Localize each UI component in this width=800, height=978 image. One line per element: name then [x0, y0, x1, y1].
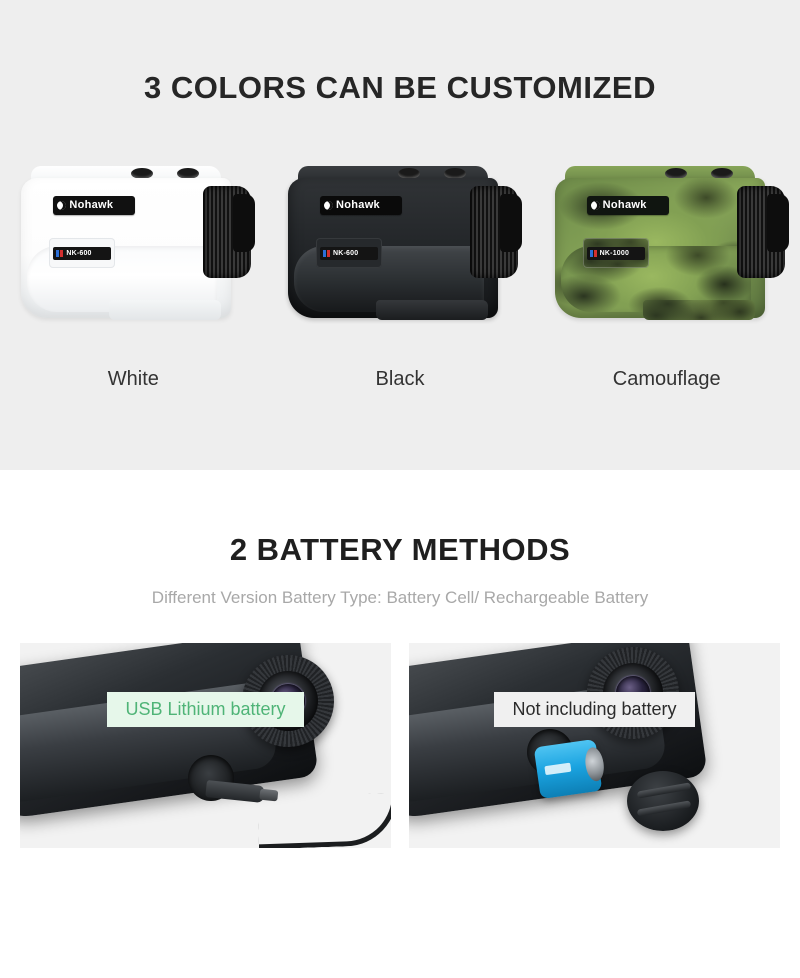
battery-cell-photo[interactable] — [409, 643, 780, 848]
model-badge-white: NK-600 — [53, 247, 111, 260]
rangefinder-black-image: Nohawk NK-600 — [280, 160, 520, 340]
model-badge-camo: NK-1000 — [587, 247, 645, 260]
color-variants-row: Nohawk NK-600 White — [0, 160, 800, 375]
brand-name-label: Nohawk — [336, 200, 380, 211]
battery-cell-caption-wrap: Not including battery — [409, 692, 780, 727]
brand-name-label: Nohawk — [69, 200, 113, 211]
battery-cap-icon — [627, 771, 699, 831]
model-number-label: NK-1000 — [600, 250, 629, 257]
cap-slot — [637, 782, 691, 798]
usb-cable-icon — [257, 793, 391, 848]
colors-section-title: 3 COLORS CAN BE CUSTOMIZED — [0, 0, 800, 106]
eyecup-icon — [233, 194, 255, 252]
model-plate-black: NK-600 — [316, 238, 382, 268]
color-label-black: Black — [267, 368, 534, 391]
blue-battery-cell-icon — [534, 739, 603, 799]
device-foot-camo — [643, 300, 755, 320]
color-label-white: White — [0, 368, 267, 391]
brand-logo-camo: Nohawk — [587, 196, 669, 215]
blue-bar-icon — [590, 250, 593, 257]
crescent-logo-icon — [57, 201, 66, 210]
model-plate-camo: NK-1000 — [583, 238, 649, 268]
brand-name-label: Nohawk — [603, 200, 647, 211]
battery-section-subtitle: Different Version Battery Type: Battery … — [0, 588, 800, 608]
device-foot-black — [376, 300, 488, 320]
blue-bar-icon — [56, 250, 59, 257]
battery-stripe — [544, 763, 571, 776]
color-variant-camouflage[interactable]: Nohawk NK-1000 Camouflage — [533, 160, 800, 375]
red-bar-icon — [594, 250, 597, 257]
model-plate-white: NK-600 — [49, 238, 115, 268]
battery-captions-row: USB Lithium battery Not including batter… — [0, 692, 800, 727]
usb-caption-wrap: USB Lithium battery — [20, 692, 391, 727]
crescent-logo-icon — [324, 201, 333, 210]
model-number-label: NK-600 — [66, 250, 91, 257]
usb-charging-photo[interactable] — [20, 643, 391, 848]
red-bar-icon — [60, 250, 63, 257]
brand-logo-black: Nohawk — [320, 196, 402, 215]
battery-section-title: 2 BATTERY METHODS — [0, 470, 800, 568]
color-variant-white[interactable]: Nohawk NK-600 White — [0, 160, 267, 375]
not-including-battery-badge: Not including battery — [494, 692, 694, 727]
battery-section: 2 BATTERY METHODS Different Version Batt… — [0, 470, 800, 978]
battery-photos-row — [0, 643, 800, 848]
eyecup-icon — [767, 194, 789, 252]
colors-section: 3 COLORS CAN BE CUSTOMIZED Nohawk — [0, 0, 800, 470]
brand-logo-white: Nohawk — [53, 196, 135, 215]
rangefinder-camouflage-image: Nohawk NK-1000 — [547, 160, 787, 340]
device-foot-white — [109, 300, 221, 320]
color-variant-black[interactable]: Nohawk NK-600 Black — [267, 160, 534, 375]
eyecup-icon — [500, 194, 522, 252]
model-badge-black: NK-600 — [320, 247, 378, 260]
color-label-camouflage: Camouflage — [533, 368, 800, 391]
blue-bar-icon — [323, 250, 326, 257]
crescent-logo-icon — [591, 201, 600, 210]
model-number-label: NK-600 — [333, 250, 358, 257]
cap-slot — [637, 800, 691, 816]
rangefinder-white-image: Nohawk NK-600 — [13, 160, 253, 340]
usb-lithium-battery-badge: USB Lithium battery — [107, 692, 303, 727]
red-bar-icon — [327, 250, 330, 257]
